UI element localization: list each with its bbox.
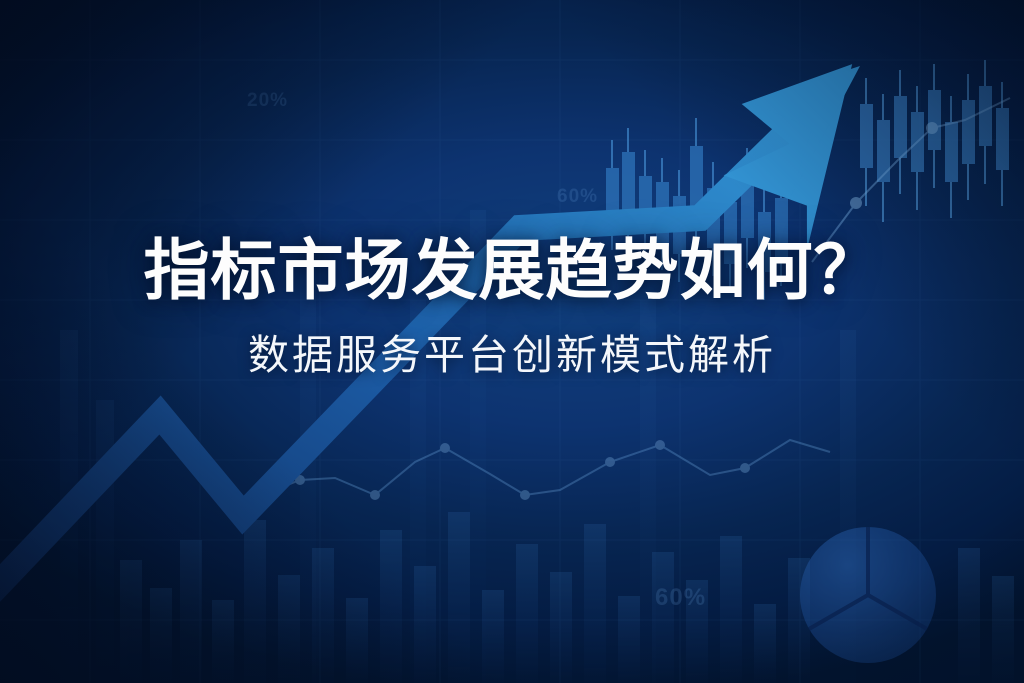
bar-chart-group [120,512,1014,683]
watermark-pct-2: 60% [557,186,598,208]
page-subtitle: 数据服务平台创新模式解析 [0,333,1024,378]
watermark-pct-1: 20% [247,90,288,112]
line-chart-mid [270,440,830,500]
title-block: 指标市场发展趋势如何？ 数据服务平台创新模式解析 [0,236,1024,378]
poster-canvas: 20% 60% 60% 指标市场发展趋势如何？ 数据服务平台创新模式解析 [0,0,1024,683]
pie-chart [800,527,936,663]
page-title: 指标市场发展趋势如何？ [0,236,1024,305]
watermark-pct-3: 60% [655,584,706,612]
